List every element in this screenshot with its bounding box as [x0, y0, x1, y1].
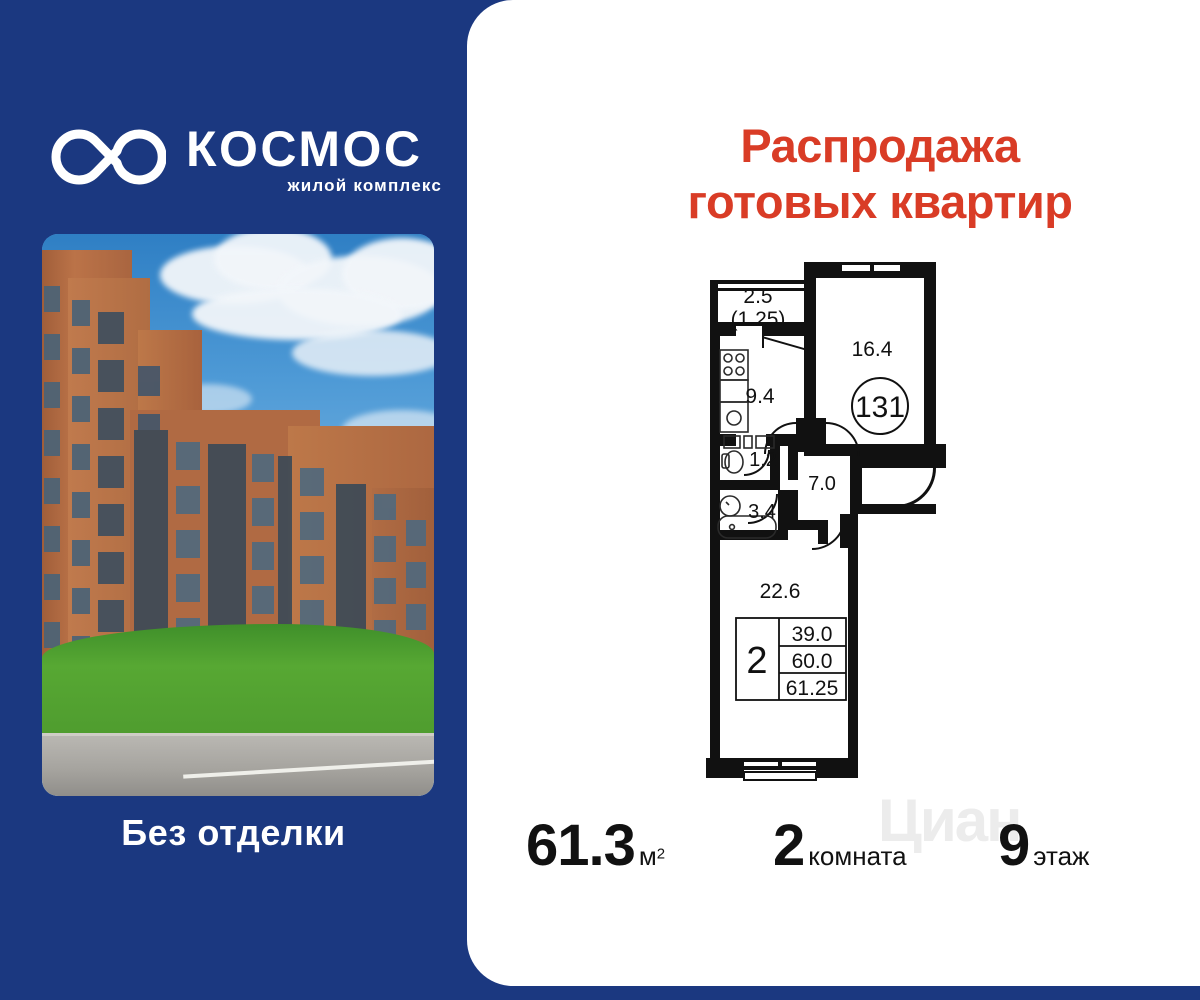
brand-logo: КОСМОС жилой комплекс — [46, 122, 441, 206]
room-label-kitchen: 9.4 — [745, 385, 775, 408]
rooms-badge: 2 — [746, 640, 767, 682]
listing-card: КОСМОС жилой комплекс — [0, 0, 1200, 1000]
road — [42, 736, 434, 796]
brand-title: КОСМОС — [186, 122, 446, 176]
listing-stats: 61.3м2 2комната 9этаж — [490, 808, 1190, 888]
stat-rooms: 2комната — [773, 812, 907, 879]
stat-area-value: 61.3 — [526, 813, 635, 878]
stat-rooms-value: 2 — [773, 813, 804, 878]
promo-headline-line2: готовых квартир — [600, 174, 1160, 230]
area-living: 39.0 — [792, 623, 833, 646]
stat-floor: 9этаж — [998, 812, 1089, 879]
room-label-bedroom: 16.4 — [852, 338, 893, 361]
stat-floor-value: 9 — [998, 813, 1029, 878]
apartment-number: 131 — [855, 391, 905, 424]
stat-area-unit: м — [639, 841, 657, 871]
area-total: 60.0 — [792, 650, 833, 673]
floorplan: 2.5 (1.25) 16.4 9.4 1.2 3.4 7.0 22.6 131 — [700, 258, 970, 798]
room-label-bathroom: 3.4 — [748, 501, 776, 523]
stat-rooms-label: комната — [808, 841, 906, 871]
apartment-number-badge: 131 — [852, 378, 908, 434]
finish-caption: Без отделки — [0, 812, 467, 854]
room-label-hall: 7.0 — [808, 473, 836, 495]
stat-floor-label: этаж — [1033, 841, 1089, 871]
area-total-with-balcony: 61.25 — [786, 677, 839, 700]
infinity-icon — [46, 126, 166, 188]
stat-area: 61.3м2 — [526, 812, 665, 879]
room-label-balcony-2: (1.25) — [731, 308, 786, 331]
promo-headline-line1: Распродажа — [600, 118, 1160, 174]
stat-area-unit-sup: 2 — [657, 846, 665, 863]
floorplan-svg: 2.5 (1.25) 16.4 9.4 1.2 3.4 7.0 22.6 131 — [700, 258, 970, 798]
building-photo — [42, 234, 434, 796]
promo-headline: Распродажа готовых квартир — [600, 118, 1160, 230]
room-label-living: 22.6 — [760, 580, 801, 603]
brand-subtitle: жилой комплекс — [186, 176, 446, 196]
room-label-wc: 1.2 — [749, 449, 777, 471]
room-label-balcony: 2.5 — [743, 285, 772, 308]
lawn — [42, 624, 434, 744]
left-brand-panel: КОСМОС жилой комплекс — [0, 0, 467, 1000]
area-badge: 2 39.0 60.0 61.25 — [736, 618, 846, 700]
